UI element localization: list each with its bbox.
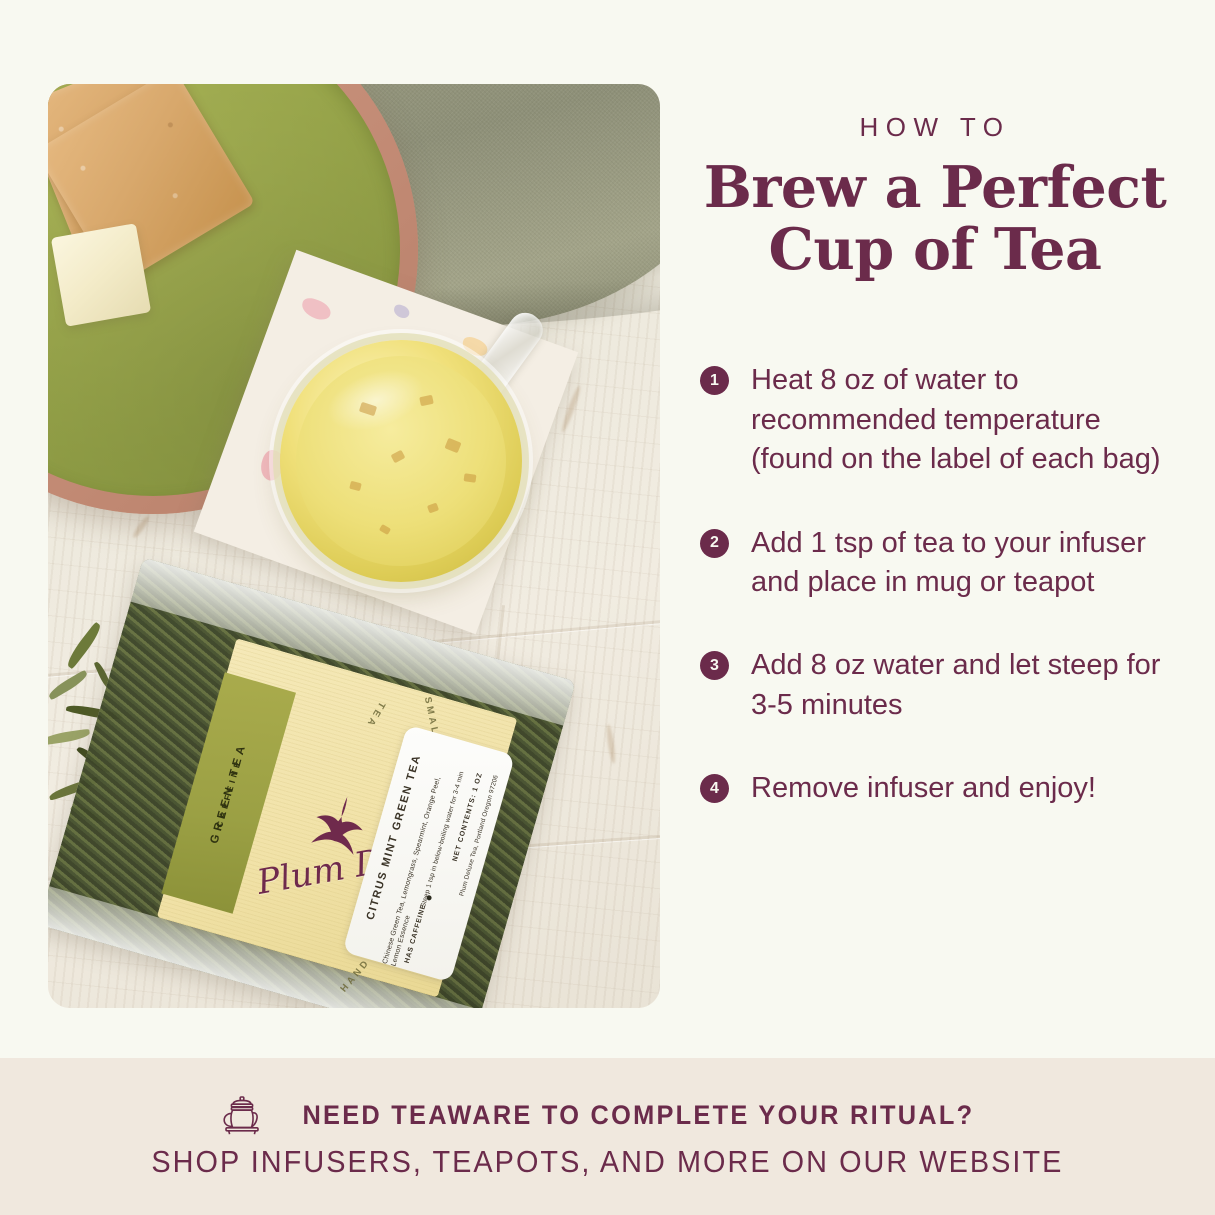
tea-highlight [319, 359, 432, 442]
footer-cta-line-2: SHOP INFUSERS, TEAPOTS, AND MORE ON OUR … [151, 1144, 1063, 1180]
footer-cta-line-1: NEED TEAWARE TO COMPLETE YOUR RITUAL? [303, 1100, 975, 1131]
step-text: Heat 8 oz of water to recommended temper… [751, 361, 1170, 479]
step-number-badge: 1 [700, 366, 729, 395]
bag-arc-tea: TEA [363, 700, 387, 730]
tea-leaf-fleck [427, 503, 439, 514]
photo-scene: GREEN TEA CAFFEINE TEA SMALL BATCH HAND … [48, 84, 660, 1008]
headline-line-2: Cup of Tea [769, 216, 1102, 283]
step-number-badge: 3 [700, 651, 729, 680]
tea-leaf-fleck [391, 450, 406, 464]
headline-line-1: Brew a Perfect [704, 154, 1167, 221]
terrazzo-chip [392, 303, 411, 320]
infographic-page: GREEN TEA CAFFEINE TEA SMALL BATCH HAND … [0, 0, 1215, 1215]
glass-cup-of-tea [280, 340, 522, 582]
list-item: 2 Add 1 tsp of tea to your infuser and p… [700, 524, 1170, 603]
step-text: Add 8 oz water and let steep for 3-5 min… [751, 646, 1170, 725]
footer-headline-row: NEED TEAWARE TO COMPLETE YOUR RITUAL? [219, 1094, 996, 1138]
teapot-icon [219, 1094, 265, 1138]
tea-leaf-fleck [419, 395, 434, 407]
list-item: 1 Heat 8 oz of water to recommended temp… [700, 361, 1170, 479]
tea-leaf-fleck [379, 524, 391, 535]
list-item: 4 Remove infuser and enjoy! [700, 769, 1170, 808]
list-item: 3 Add 8 oz water and let steep for 3-5 m… [700, 646, 1170, 725]
tea-surface [296, 356, 506, 566]
step-text: Remove infuser and enjoy! [751, 769, 1096, 808]
step-number-badge: 2 [700, 529, 729, 558]
footer-cta-band: NEED TEAWARE TO COMPLETE YOUR RITUAL? SH… [0, 1058, 1215, 1215]
tea-leaf-fleck [444, 438, 461, 453]
tea-leaf-fleck [464, 473, 477, 483]
page-title: Brew a Perfect Cup of Tea [700, 157, 1170, 281]
eyebrow-label: HOW TO [700, 112, 1170, 143]
tea-leaf-fleck [349, 481, 362, 491]
terrazzo-chip [299, 296, 333, 323]
step-number-badge: 4 [700, 774, 729, 803]
instructions-column: HOW TO Brew a Perfect Cup of Tea 1 Heat … [700, 84, 1170, 809]
hero-photo: GREEN TEA CAFFEINE TEA SMALL BATCH HAND … [48, 84, 660, 1008]
cheese-cube [51, 223, 151, 327]
step-text: Add 1 tsp of tea to your infuser and pla… [751, 524, 1170, 603]
steps-list: 1 Heat 8 oz of water to recommended temp… [700, 361, 1170, 809]
